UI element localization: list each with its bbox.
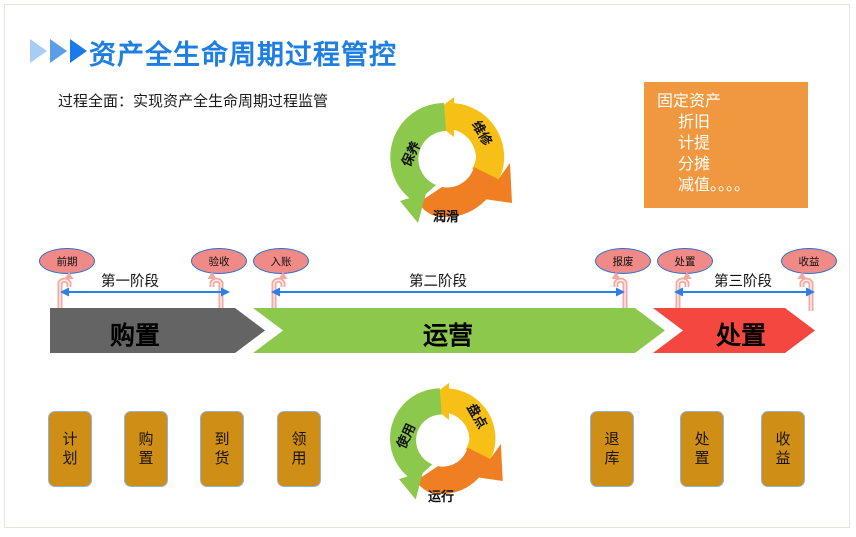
triple-triangle-icon bbox=[30, 36, 92, 66]
activity-char: 购 bbox=[138, 430, 153, 449]
cycle-label-yunxing: 运行 bbox=[428, 486, 454, 505]
fixed-asset-info-box: 固定资产 折旧 计提 分摊 减值。。。。 bbox=[644, 82, 808, 208]
activity-char: 到 bbox=[214, 430, 229, 449]
info-line: 固定资产 bbox=[644, 91, 808, 112]
stage-label-yunying: 运营 bbox=[423, 316, 473, 352]
stage-label-gouzhi: 购置 bbox=[110, 316, 160, 352]
info-line: 分摊 bbox=[644, 154, 808, 175]
stage-label-chuzhi: 处置 bbox=[716, 316, 766, 352]
activity-char: 置 bbox=[138, 449, 153, 468]
measure-arrow-phase-1 bbox=[60, 286, 230, 298]
activity-char: 收 bbox=[775, 430, 790, 449]
activity-box-gouzhi[interactable]: 购 置 bbox=[124, 411, 168, 487]
info-line: 折旧 bbox=[644, 112, 808, 133]
activity-char: 货 bbox=[214, 449, 229, 468]
activity-char: 处 bbox=[694, 430, 709, 449]
activity-char: 划 bbox=[62, 449, 77, 468]
activity-char: 益 bbox=[775, 449, 790, 468]
measure-arrow-phase-2 bbox=[271, 286, 625, 298]
operation-cycle: 盘点 运行 使用 bbox=[387, 381, 512, 506]
cycle-label-runhua: 润滑 bbox=[433, 206, 459, 225]
measure-arrow-phase-3 bbox=[674, 286, 815, 298]
activity-char: 领 bbox=[291, 430, 306, 449]
activity-box-tuiku[interactable]: 退 库 bbox=[590, 411, 634, 487]
activity-char: 库 bbox=[604, 449, 619, 468]
page-subtitle: 过程全面：实现资产全生命周期过程监管 bbox=[58, 90, 328, 111]
activity-box-lingyong[interactable]: 领 用 bbox=[277, 411, 321, 487]
slide-canvas: 资产全生命周期过程管控 过程全面：实现资产全生命周期过程监管 固定资产 折旧 计… bbox=[4, 4, 850, 528]
info-line: 计提 bbox=[644, 133, 808, 154]
activity-char: 退 bbox=[604, 430, 619, 449]
info-line: 减值。。。。 bbox=[644, 175, 808, 196]
activity-box-chuzhi[interactable]: 处 置 bbox=[680, 411, 724, 487]
activity-box-shouyi[interactable]: 收 益 bbox=[761, 411, 805, 487]
maintenance-cycle: 维修 润滑 保养 bbox=[392, 95, 517, 230]
activity-char: 计 bbox=[62, 430, 77, 449]
page-title: 资产全生命周期过程管控 bbox=[89, 33, 397, 72]
activity-box-daohuo[interactable]: 到 货 bbox=[200, 411, 244, 487]
activity-char: 置 bbox=[694, 449, 709, 468]
activity-box-jihua[interactable]: 计 划 bbox=[48, 411, 92, 487]
activity-char: 用 bbox=[291, 449, 306, 468]
